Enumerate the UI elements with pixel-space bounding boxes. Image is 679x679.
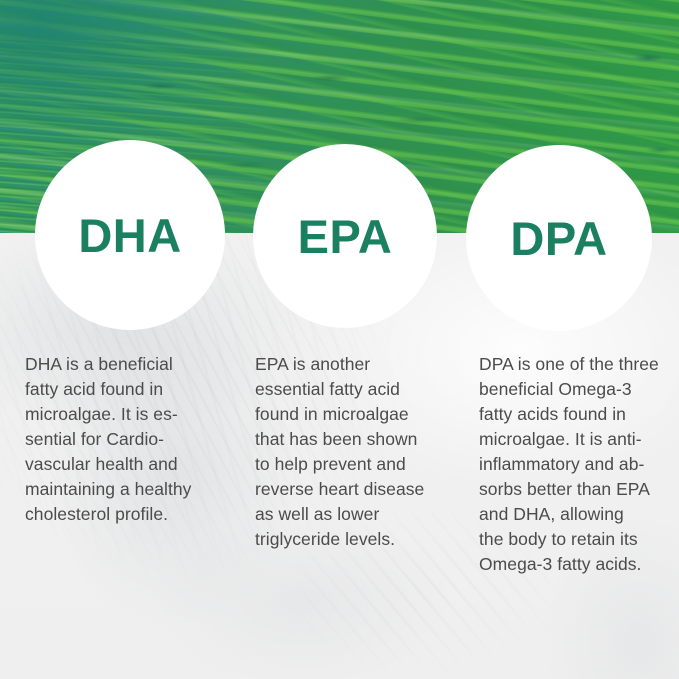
badge-circle-dha: DHA	[35, 140, 225, 330]
omega3-infographic: DHA EPA DPA DHA is a beneficial fatty ac…	[0, 0, 679, 679]
description-text-epa: EPA is another essential fatty acid foun…	[255, 352, 460, 552]
badge-label-dpa: DPA	[510, 215, 607, 262]
badge-label-epa: EPA	[298, 213, 393, 260]
description-column-epa: EPA is another essential fatty acid foun…	[238, 352, 466, 577]
description-columns: DHA is a beneficial fatty acid found in …	[0, 352, 679, 577]
badge-circle-epa: EPA	[253, 144, 437, 328]
description-text-dpa: DPA is one of the three beneficial Omega…	[479, 352, 673, 577]
description-column-dpa: DPA is one of the three beneficial Omega…	[466, 352, 679, 577]
description-column-dha: DHA is a beneficial fatty acid found in …	[0, 352, 238, 577]
badge-label-dha: DHA	[78, 212, 181, 259]
description-text-dha: DHA is a beneficial fatty acid found in …	[25, 352, 230, 527]
badge-circle-dpa: DPA	[466, 145, 652, 331]
